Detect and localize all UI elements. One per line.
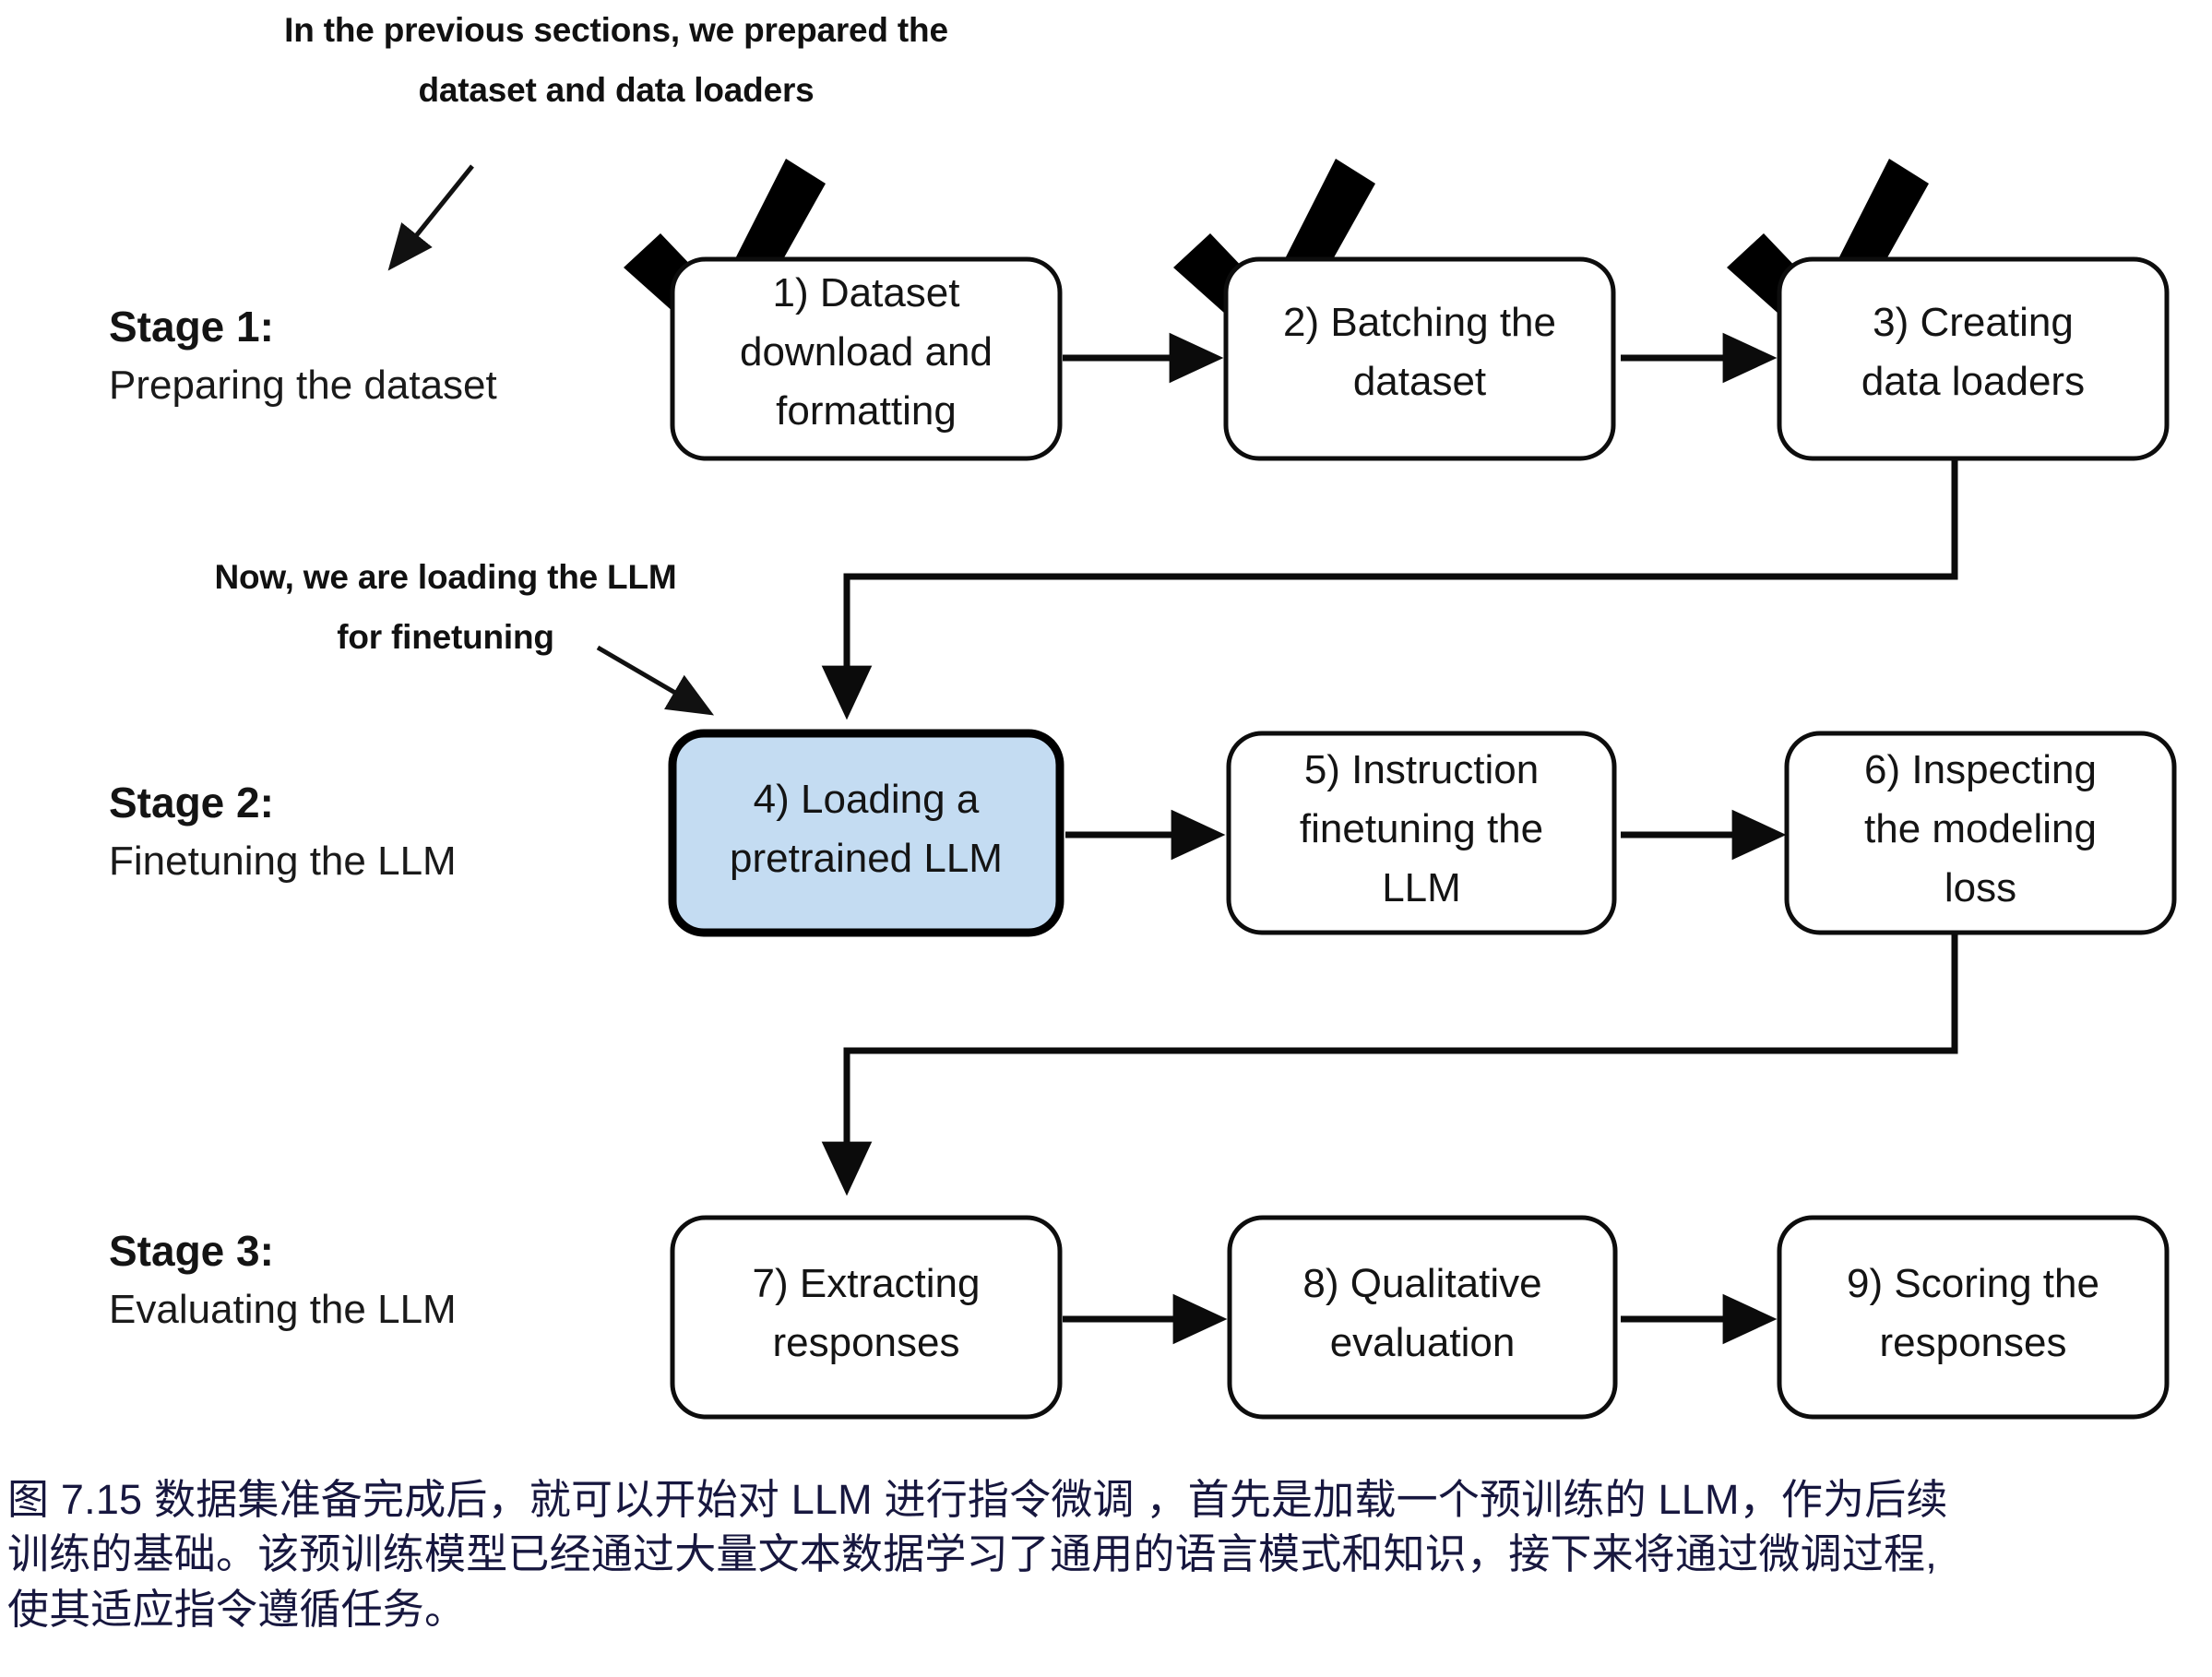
step-6-line-2: the modeling [1864, 806, 2097, 851]
step-1-line-2: download and [740, 329, 993, 375]
step-9-line-2: responses [1879, 1320, 2066, 1365]
figure-container: In the previous sections, we prepared th… [0, 0, 2212, 1677]
step-5-line-2: finetuning the [1300, 806, 1543, 851]
annotation-prev-sections-arrow [392, 166, 472, 266]
stage-2-subtitle: Finetuning the LLM [109, 838, 457, 884]
stage-1-subtitle: Preparing the dataset [109, 363, 497, 408]
step-4-node[interactable]: 4) Loading a pretrained LLM [672, 733, 1060, 933]
annotation-prev-sections-line1: In the previous sections, we prepared th… [284, 11, 948, 49]
stage-2-label: Stage 2: Finetuning the LLM [109, 779, 457, 884]
step-4-box[interactable] [672, 733, 1060, 933]
step-1-line-1: 1) Dataset [773, 270, 960, 315]
stage-2-title: Stage 2: [109, 779, 274, 827]
annotation-loading-llm-line2: for finetuning [337, 618, 554, 656]
step-6-line-3: loss [1944, 865, 2016, 910]
step-7-line-2: responses [772, 1320, 959, 1365]
annotation-loading-llm: Now, we are loading the LLM for finetuni… [215, 558, 708, 712]
step-8-node[interactable]: 8) Qualitative evaluation [1230, 1218, 1615, 1417]
step-2-line-1: 2) Batching the [1283, 300, 1556, 345]
step-9-line-1: 9) Scoring the [1847, 1261, 2099, 1306]
step-8-line-2: evaluation [1330, 1320, 1516, 1365]
step-3-line-1: 3) Creating [1873, 300, 2074, 345]
pipeline-diagram: In the previous sections, we prepared th… [0, 0, 2212, 1677]
stage-1-title: Stage 1: [109, 303, 274, 351]
step-5-line-3: LLM [1382, 865, 1461, 910]
step-3-node[interactable]: 3) Creating data loaders [1779, 259, 2167, 458]
step-5-node[interactable]: 5) Instruction finetuning the LLM [1229, 733, 1614, 933]
figure-caption-line-3: 使其适应指令遵循任务。 [7, 1582, 2205, 1636]
step-6-line-1: 6) Inspecting [1864, 747, 2097, 792]
step-2-line-2: dataset [1353, 359, 1486, 404]
stage-1-label: Stage 1: Preparing the dataset [109, 303, 497, 408]
step-8-box[interactable] [1230, 1218, 1615, 1417]
step-7-box[interactable] [672, 1218, 1060, 1417]
stage-3-label: Stage 3: Evaluating the LLM [109, 1227, 457, 1332]
step-5-line-1: 5) Instruction [1304, 747, 1539, 792]
step-2-node[interactable]: 2) Batching the dataset [1226, 259, 1613, 458]
step-1-node[interactable]: 1) Dataset download and formatting [672, 259, 1060, 458]
annotation-loading-llm-arrow [598, 648, 708, 712]
figure-caption-line-1: 图 7.15 数据集准备完成后，就可以开始对 LLM 进行指令微调 ，首先是加载… [7, 1472, 2205, 1527]
step-4-line-1: 4) Loading a [754, 777, 980, 822]
step-3-line-2: data loaders [1861, 359, 2085, 404]
annotation-prev-sections: In the previous sections, we prepared th… [284, 11, 948, 266]
step-7-line-1: 7) Extracting [753, 1261, 981, 1306]
step-6-node[interactable]: 6) Inspecting the modeling loss [1787, 733, 2174, 933]
connector-step3-to-step4 [847, 459, 1955, 712]
step-9-box[interactable] [1779, 1218, 2167, 1417]
step-8-line-1: 8) Qualitative [1302, 1261, 1541, 1306]
annotation-prev-sections-line2: dataset and data loaders [418, 71, 814, 109]
step-1-line-3: formatting [776, 388, 957, 434]
stage-3-title: Stage 3: [109, 1227, 274, 1275]
step-4-line-2: pretrained LLM [730, 836, 1003, 881]
step-7-node[interactable]: 7) Extracting responses [672, 1218, 1060, 1417]
step-9-node[interactable]: 9) Scoring the responses [1779, 1218, 2167, 1417]
annotation-loading-llm-line1: Now, we are loading the LLM [215, 558, 677, 596]
figure-caption-line-2: 训练的基础。该预训练模型已经通过大量文本数据学习了通用的语言模式和知识，接下来将… [7, 1527, 2205, 1581]
figure-caption: 图 7.15 数据集准备完成后，就可以开始对 LLM 进行指令微调 ，首先是加载… [7, 1472, 2205, 1636]
stage-3-subtitle: Evaluating the LLM [109, 1287, 457, 1332]
connector-step6-to-step7 [847, 932, 1955, 1188]
